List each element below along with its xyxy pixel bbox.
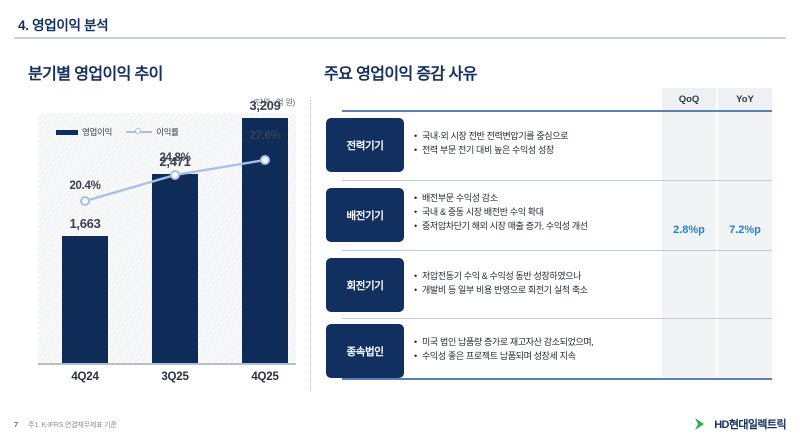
page-title: 4. 영업이익 분석 <box>18 14 108 34</box>
row-bullets-subsidiaries: 미국 법인 납품량 증가로 재고자산 감소되었으며, 수익성 좋은 프로젝트 납… <box>414 336 664 364</box>
bullet-item: 국내·외 시장 전반 전력변압기를 중심으로 <box>414 130 664 143</box>
bullet-item: 미국 법인 납품량 증가로 재고자산 감소되었으며, <box>414 336 664 349</box>
column-value-yoy: 7.2%p <box>718 224 772 236</box>
bullet-item: 배전부문 수익성 감소 <box>414 192 664 205</box>
bullet-item: 저압전동기 수익 & 수익성 동반 성장하였으나 <box>414 270 664 283</box>
category-label-4q25: 4Q25 <box>230 371 300 383</box>
reasons-table: QoQ YoY 전력기기 국내·외 시장 전반 전력변압기를 중심으로 전력 부… <box>322 88 790 388</box>
bar-4q25 <box>242 118 288 363</box>
page-number: 7 <box>14 420 18 429</box>
legend-label-operating-profit: 영업이익 <box>82 126 112 138</box>
margin-label-4q25: 27.6% <box>228 130 302 142</box>
column-band-qoq <box>662 110 716 378</box>
brand-name: HD현대일렉트릭 <box>714 416 786 432</box>
bullet-item: 전력 부문 전기 대비 높은 수익성 성장 <box>414 144 664 157</box>
chart-legend: 영업이익 이익률 <box>56 126 179 138</box>
legend-item-operating-profit: 영업이익 <box>56 126 112 138</box>
row-tag-subsidiaries: 종속법인 <box>326 324 404 378</box>
table-panel-heading: 주요 영업이익 증감 사유 <box>324 60 477 84</box>
category-label-3q25: 3Q25 <box>140 371 210 383</box>
legend-label-profit-margin: 이익률 <box>156 126 179 138</box>
row-separator <box>342 250 772 251</box>
row-tag-rotating-equipment: 회전기기 <box>326 258 404 312</box>
bar-4q24 <box>62 236 108 363</box>
row-bullets-rotating-equipment: 저압전동기 수익 & 수익성 동반 성장하였으나 개발비 등 일부 비용 반영으… <box>414 270 664 298</box>
row-bullets-distribution-equipment: 배전부문 수익성 감소 국내 & 중동 시장 배전반 수익 확대 중저압차단기 … <box>414 192 664 234</box>
category-label-4q24: 4Q24 <box>50 371 120 383</box>
table-bottom-rule <box>342 378 772 380</box>
table-top-rule <box>342 110 772 112</box>
chevron-right-icon <box>693 417 709 431</box>
bar-value-4q24: 1,663 <box>47 216 123 231</box>
legend-bar-swatch-icon <box>56 130 78 135</box>
bullet-item: 중저압차단기 해외 시장 매출 증가, 수익성 개선 <box>414 220 664 233</box>
row-separator <box>342 180 772 181</box>
title-divider <box>14 37 786 39</box>
row-bullets-power-equipment: 국내·외 시장 전반 전력변압기를 중심으로 전력 부문 전기 대비 높은 수익… <box>414 130 664 158</box>
column-value-qoq: 2.8%p <box>662 224 716 236</box>
bar-value-4q25: 3,209 <box>227 98 303 113</box>
row-tag-power-equipment: 전력기기 <box>326 118 404 172</box>
margin-label-3q25: 24.8% <box>138 152 212 164</box>
legend-line-swatch-icon <box>126 128 152 136</box>
chart-panel-heading: 분기별 영업이익 추이 <box>28 60 163 84</box>
row-separator <box>342 318 772 319</box>
bullet-item: 국내 & 중동 시장 배전반 수익 확대 <box>414 206 664 219</box>
bullet-item: 개발비 등 일부 비용 반영으로 회전기 실적 축소 <box>414 284 664 297</box>
margin-label-4q24: 20.4% <box>48 180 122 192</box>
chart-x-axis <box>38 363 296 365</box>
row-tag-distribution-equipment: 배전기기 <box>326 188 404 242</box>
footnote: 주1. K-IFRS 연결재무제표 기준 <box>28 420 117 430</box>
brand-logo: HD현대일렉트릭 <box>693 416 786 432</box>
panel-divider <box>310 100 311 392</box>
column-header-yoy: YoY <box>718 88 772 110</box>
bullet-item: 수익성 좋은 프로젝트 납품되며 성장세 지속 <box>414 350 664 363</box>
legend-item-profit-margin: 이익률 <box>126 126 179 138</box>
column-header-qoq: QoQ <box>662 88 716 110</box>
bar-3q25 <box>152 174 198 363</box>
column-band-yoy <box>718 110 772 378</box>
